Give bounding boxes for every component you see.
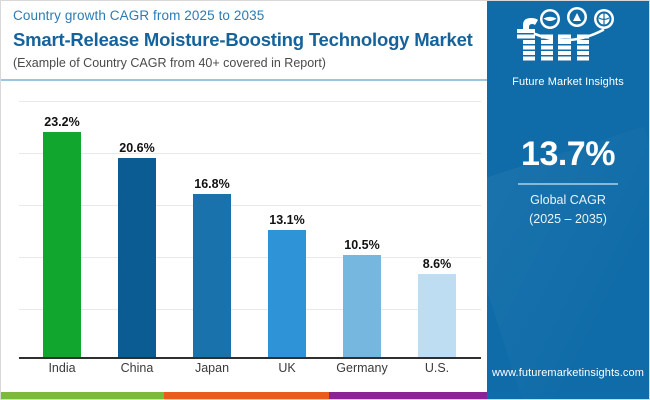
fmi-logo: Future Market Insights	[487, 7, 649, 88]
page-title: Smart-Release Moisture-Boosting Technolo…	[13, 28, 487, 52]
x-axis-label: China	[101, 361, 173, 375]
bar-group[interactable]: 8.6%	[418, 252, 456, 357]
green-segment	[1, 392, 164, 400]
brand-sidebar: Future Market Insights 13.7% Global CAGR…	[487, 1, 649, 400]
header-eyebrow: Country growth CAGR from 2025 to 2035	[13, 7, 487, 25]
cagr-divider	[518, 183, 618, 185]
header-divider	[1, 79, 489, 81]
bar-group[interactable]: 23.2%	[43, 110, 81, 357]
purple-segment	[329, 392, 489, 400]
bar-value-label: 23.2%	[29, 115, 95, 129]
cagr-label-line1: Global CAGR	[487, 191, 649, 210]
fmi-logo-mark	[493, 7, 643, 75]
orange-segment	[164, 392, 329, 400]
bar-chart: 23.2%20.6%16.8%13.1%10.5%8.6%	[1, 89, 489, 359]
logo-icon-globe	[540, 9, 560, 29]
x-axis-label: UK	[251, 361, 323, 375]
bar-group[interactable]: 20.6%	[118, 136, 156, 357]
bar[interactable]	[268, 230, 306, 357]
bar-value-label: 13.1%	[254, 213, 320, 227]
bar-group[interactable]: 13.1%	[268, 208, 306, 357]
bar-group[interactable]: 16.8%	[193, 172, 231, 357]
bar-value-label: 20.6%	[104, 141, 170, 155]
bar[interactable]	[118, 158, 156, 357]
bar-value-label: 10.5%	[329, 238, 395, 252]
x-axis-labels: IndiaChinaJapanUKGermanyU.S.	[1, 361, 489, 391]
bar[interactable]	[343, 255, 381, 357]
global-cagr-value: 13.7%	[487, 135, 649, 174]
x-axis-label: Japan	[176, 361, 248, 375]
bar-value-label: 8.6%	[404, 257, 470, 271]
bar-value-label: 16.8%	[179, 177, 245, 191]
cagr-label-line2: (2025 – 2035)	[487, 210, 649, 229]
x-axis-label: India	[26, 361, 98, 375]
logo-tagline: Future Market Insights	[487, 76, 649, 88]
logo-icon-world	[594, 9, 614, 29]
bar[interactable]	[43, 132, 81, 357]
x-axis-label: Germany	[326, 361, 398, 375]
x-axis-label: U.S.	[401, 361, 473, 375]
infographic-page: Country growth CAGR from 2025 to 2035 Sm…	[0, 0, 650, 400]
header-subtitle: (Example of Country CAGR from 40+ covere…	[13, 55, 487, 72]
global-cagr-label: Global CAGR (2025 – 2035)	[487, 191, 649, 229]
main-content-area: Country growth CAGR from 2025 to 2035 Sm…	[1, 1, 489, 400]
chart-plot-area: 23.2%20.6%16.8%13.1%10.5%8.6%	[1, 89, 489, 359]
bar-group[interactable]: 10.5%	[343, 233, 381, 357]
logo-icon-chart	[567, 7, 587, 27]
x-axis-line	[19, 357, 481, 359]
bar[interactable]	[418, 274, 456, 357]
website-url[interactable]: www.futuremarketinsights.com	[487, 367, 649, 379]
header: Country growth CAGR from 2025 to 2035 Sm…	[9, 5, 487, 72]
bar[interactable]	[193, 194, 231, 357]
